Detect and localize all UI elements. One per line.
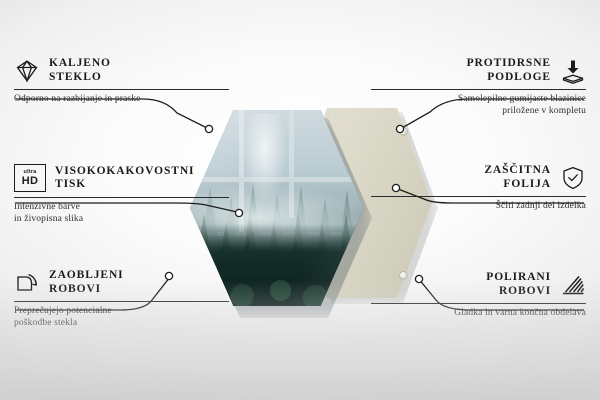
ultra-hd-icon-bottom-label: HD <box>22 176 39 187</box>
feature-title-line2: ROBOVI <box>486 285 551 299</box>
feature-desc-line1: Odporno na razbijanje in praske <box>14 94 229 106</box>
feature-high-quality-print: ultra HD VISOKOKAKOVOSTNI TISK Intenzivn… <box>14 164 229 225</box>
shield-check-icon <box>560 165 586 191</box>
feature-desc-line1: Gladka in varna končna obdelava <box>371 308 586 320</box>
feature-title-line1: VISOKOKAKOVOSTNI <box>55 165 194 179</box>
feature-title-line1: ZAŠČITNA <box>484 164 551 178</box>
ultra-hd-icon: ultra HD <box>14 164 46 192</box>
feature-title-line1: ZAOBLJENI <box>49 269 124 283</box>
feature-desc-line1: Intenzivne barve <box>14 202 229 214</box>
feature-polished-edges: POLIRANI ROBOVI Gladka in varna končna o… <box>371 271 586 320</box>
feature-title-line2: ROBOVI <box>49 283 124 297</box>
pad-press-icon <box>560 58 586 84</box>
feature-title-line1: PROTIDRSNE <box>467 57 551 71</box>
rounded-corner-icon <box>14 270 40 296</box>
feature-protective-film: ZAŠČITNA FOLIJA Ščiti zadnji del izdelka <box>371 164 586 213</box>
divider <box>371 196 586 197</box>
feature-desc-line2: poškodbe stekla <box>14 318 229 330</box>
feature-title-line2: TISK <box>55 178 194 192</box>
feature-title-line2: STEKLO <box>49 71 111 85</box>
feature-desc-line1: Samolepilne gumijaste blazinice <box>371 94 586 106</box>
divider <box>14 89 229 90</box>
divider <box>371 89 586 90</box>
infographic-canvas: KALJENO STEKLO Odporno na razbijanje in … <box>0 0 600 400</box>
divider <box>14 301 229 302</box>
feature-desc-line2: in živopisna slika <box>14 214 229 226</box>
feature-anti-slip-pads: PROTIDRSNE PODLOGE Samolepilne gumijaste… <box>371 57 586 117</box>
feature-title-line1: POLIRANI <box>486 271 551 285</box>
feature-desc-line2: priložene v kompletu <box>371 106 586 118</box>
rubber-pad <box>400 128 407 135</box>
feature-rounded-edges: ZAOBLJENI ROBOVI Preprečujejo potencialn… <box>14 269 229 329</box>
feature-title-line2: PODLOGE <box>467 71 551 85</box>
diamond-icon <box>14 58 40 84</box>
divider <box>371 303 586 304</box>
feature-title-line1: KALJENO <box>49 57 111 71</box>
feature-desc-line1: Ščiti zadnji del izdelka <box>371 201 586 213</box>
feature-desc-line1: Preprečujejo potencialne <box>14 306 229 318</box>
polished-edge-icon <box>560 272 586 298</box>
feature-tempered-glass: KALJENO STEKLO Odporno na razbijanje in … <box>14 57 229 106</box>
divider <box>14 197 229 198</box>
feature-title-line2: FOLIJA <box>484 178 551 192</box>
